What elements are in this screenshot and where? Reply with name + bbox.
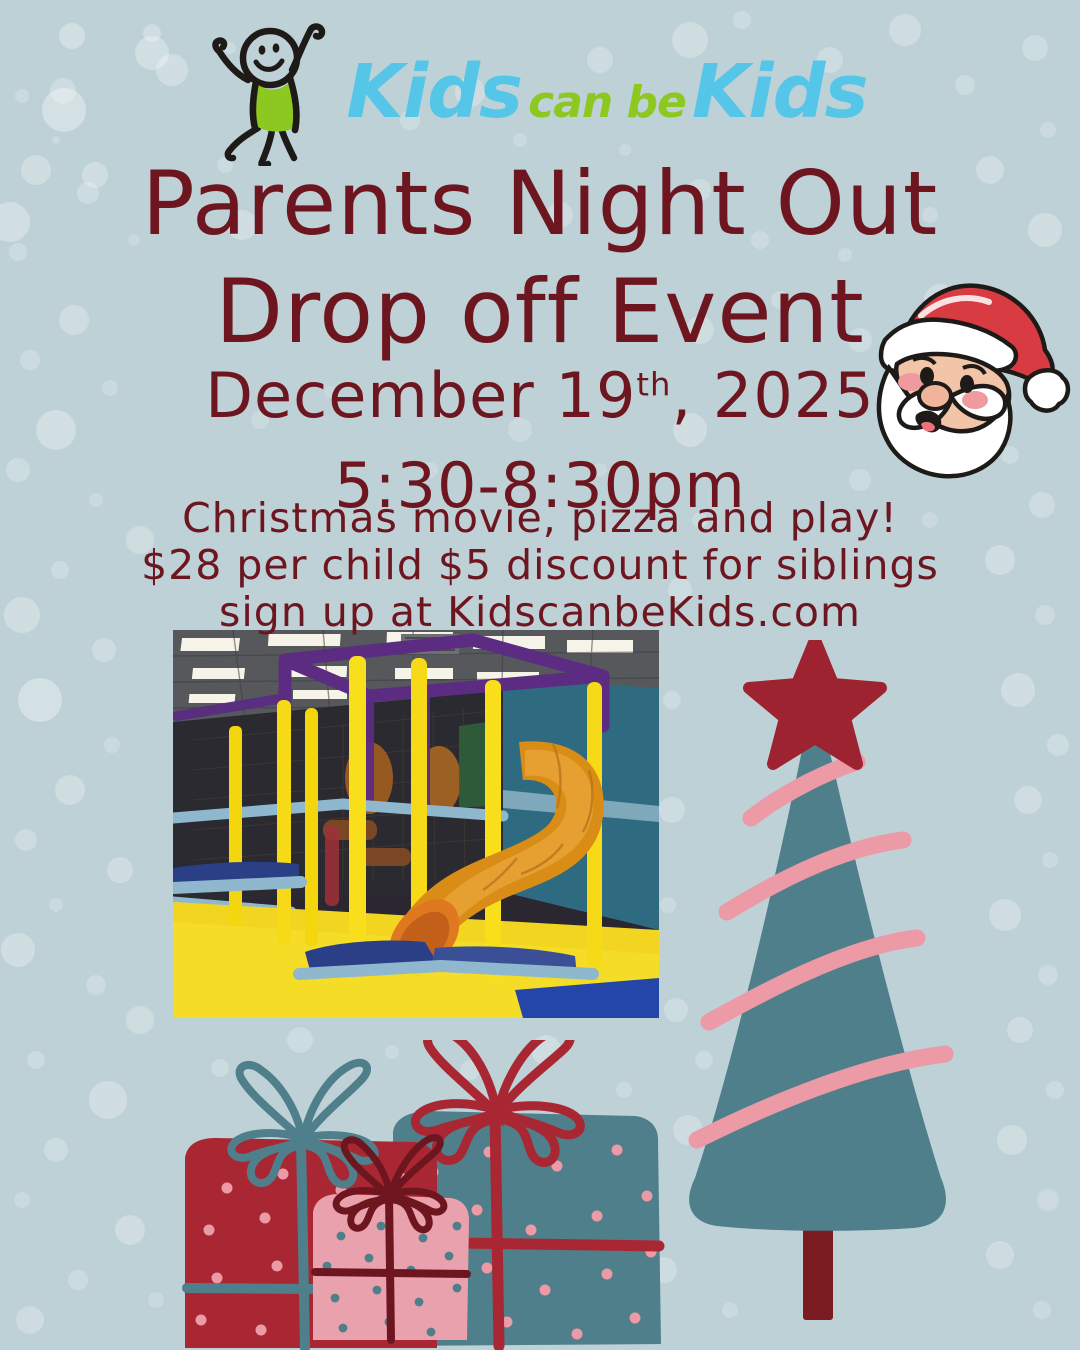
snow-dot <box>89 1081 127 1119</box>
detail-line-pricing: $28 per child $5 discount for siblings <box>0 545 1080 586</box>
snow-dot <box>68 1270 88 1290</box>
snow-dot <box>55 775 85 805</box>
snow-dot <box>1007 1017 1033 1043</box>
event-date-year: , 2025 <box>671 359 874 432</box>
snow-dot <box>18 678 62 722</box>
snow-dot <box>986 1241 1014 1269</box>
snow-dot <box>1001 673 1035 707</box>
snow-dot <box>1047 734 1069 756</box>
gift-boxes-group <box>165 1040 685 1350</box>
flyer-canvas: Kids can be Kids Parents Night Out Drop … <box>0 0 1080 1350</box>
logo-word-can-be: can be <box>528 77 686 128</box>
snow-dot <box>16 1306 44 1334</box>
detail-line-activities: Christmas movie, pizza and play! <box>0 498 1080 539</box>
snow-dot <box>989 899 1021 931</box>
santa-cheek-right <box>962 391 988 409</box>
snow-dot <box>1042 852 1058 868</box>
snow-dot <box>92 638 116 662</box>
brand-logo: Kids can be Kids <box>0 18 1080 166</box>
snow-dot <box>148 1292 164 1308</box>
tree-trunk <box>803 1220 833 1320</box>
snow-dot <box>107 857 133 883</box>
snow-dot <box>1037 1189 1059 1211</box>
jumping-stick-figure-icon <box>212 18 342 166</box>
detail-line-signup: sign up at KidscanbeKids.com <box>0 592 1080 633</box>
snow-dot <box>1014 786 1042 814</box>
snow-dot <box>1046 1081 1064 1099</box>
snow-dot <box>1038 965 1058 985</box>
snow-dot <box>115 1215 145 1245</box>
snow-dot <box>14 1192 30 1208</box>
event-date-ordinal: th <box>636 365 671 403</box>
logo-word-kids-1: Kids <box>346 49 522 135</box>
event-date-monthday: December 19 <box>205 359 636 432</box>
snow-dot <box>49 898 63 912</box>
logo-word-kids-2: Kids <box>692 49 868 135</box>
brand-wordmark: Kids can be Kids <box>346 49 867 135</box>
snow-dot <box>86 975 106 995</box>
santa-hat-pompom <box>1025 370 1068 410</box>
snow-dot <box>104 737 120 753</box>
christmas-tree-icon <box>655 640 985 1330</box>
snow-dot <box>126 1006 154 1034</box>
snow-dot <box>1 933 35 967</box>
santa-face-icon <box>855 272 1077 487</box>
snow-dot <box>27 1051 45 1069</box>
snow-dot <box>44 1138 68 1162</box>
snow-dot <box>1033 1301 1051 1319</box>
indoor-playground-photo <box>173 630 659 1018</box>
snow-dot <box>15 829 37 851</box>
page-title-line-1: Parents Night Out <box>0 160 1080 248</box>
snow-dot <box>997 1125 1027 1155</box>
